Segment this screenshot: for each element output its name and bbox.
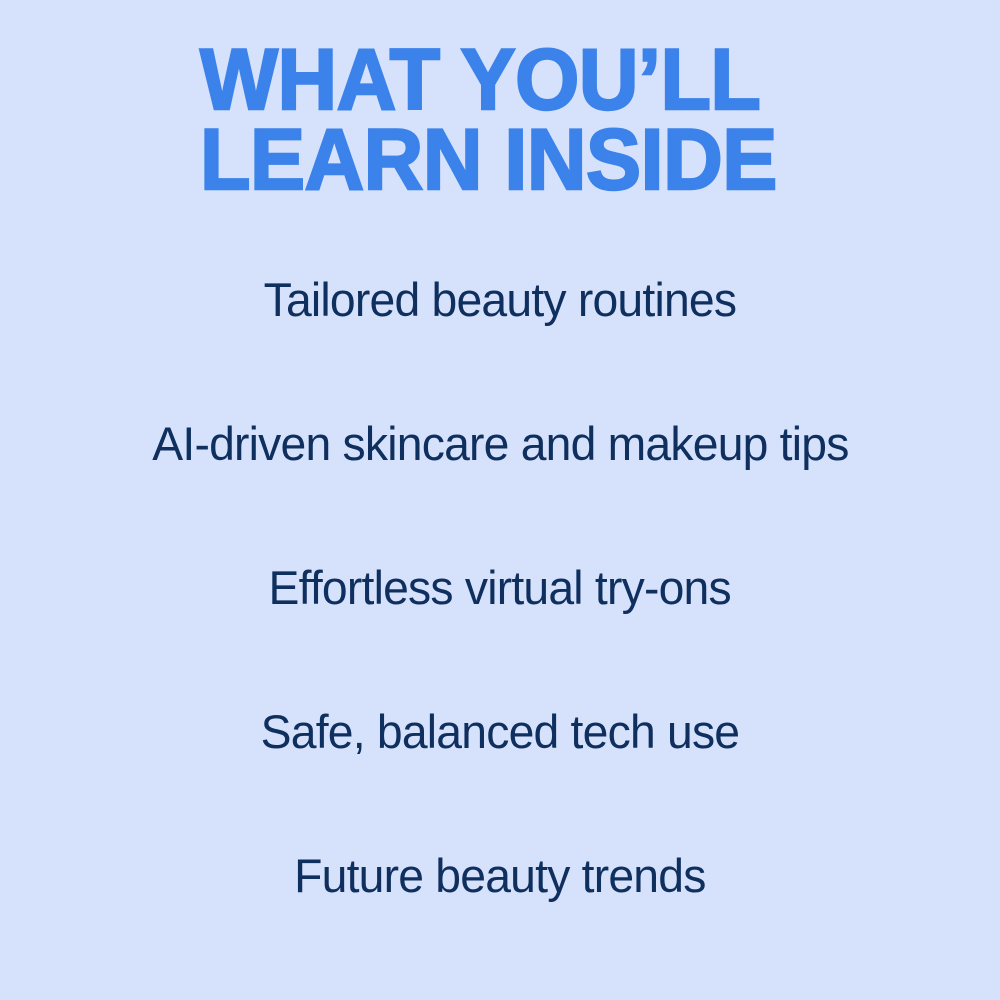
feature-label-3: Effortless virtual try-ons xyxy=(269,562,731,614)
list-item: Tailored beauty routines xyxy=(0,228,1000,372)
feature-label-5: Future beauty trends xyxy=(294,850,705,902)
feature-label-4: Safe, balanced tech use xyxy=(261,706,740,758)
page-title-line-2: LEARN INSIDE xyxy=(200,124,777,198)
feature-label-1: Tailored beauty routines xyxy=(264,274,737,326)
feature-label-2: AI-driven skincare and makeup tips xyxy=(152,418,848,470)
list-item: Safe, balanced tech use xyxy=(0,660,1000,804)
slide-canvas: WHAT YOU’LL LEARN INSIDE Tailored beauty… xyxy=(0,0,1000,1000)
feature-list: Tailored beauty routines AI-driven skinc… xyxy=(0,228,1000,948)
page-title: WHAT YOU’LL LEARN INSIDE xyxy=(0,44,1000,198)
list-item: Future beauty trends xyxy=(0,804,1000,948)
page-title-inner: WHAT YOU’LL LEARN INSIDE xyxy=(200,44,801,198)
list-item: Effortless virtual try-ons xyxy=(0,516,1000,660)
list-item: AI-driven skincare and makeup tips xyxy=(0,372,1000,516)
page-title-line-1: WHAT YOU’LL xyxy=(200,44,777,118)
